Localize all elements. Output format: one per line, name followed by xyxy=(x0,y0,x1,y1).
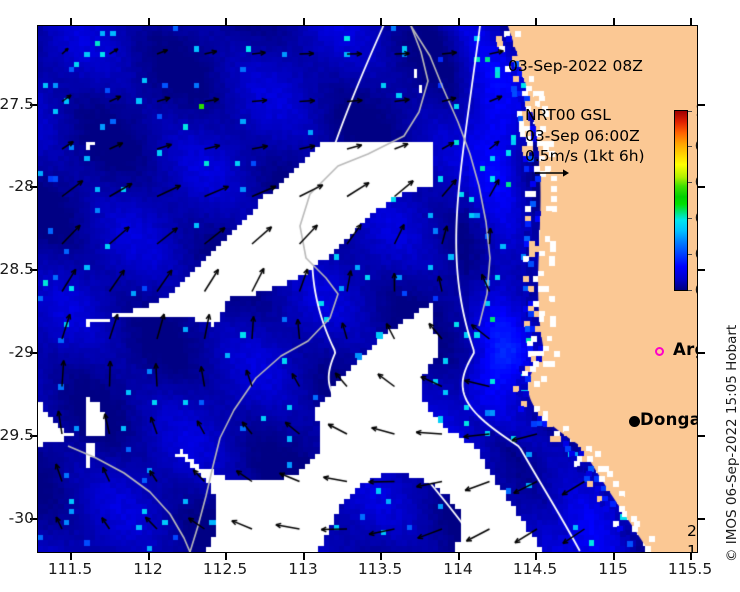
colorbar: 0 0.2 0.4 0.6 0.8 1 xyxy=(674,110,688,291)
xtick-top-4 xyxy=(303,18,305,25)
ytick-right-5 xyxy=(698,435,705,437)
velocity-annotation-block: NRT00 GSL 03-Sep 06:00Z 0.5m/s (1kt 6h) xyxy=(525,105,645,167)
xtick-113-5 xyxy=(380,553,382,560)
xtick-top-3 xyxy=(225,18,227,25)
velocity-scale-label: 0.5m/s (1kt 6h) xyxy=(525,146,645,167)
ytick-right-4 xyxy=(698,352,705,354)
map-plot-area[interactable]: 03-Sep-2022 08Z NRT00 GSL 03-Sep 06:00Z … xyxy=(37,25,698,553)
xtick-114-5 xyxy=(535,553,537,560)
ytick-right-2 xyxy=(698,186,705,188)
ytick-label--27-5: -27.5 xyxy=(0,95,34,113)
xtick-114 xyxy=(458,553,460,560)
xtick-115 xyxy=(613,553,615,560)
xtick-label-115-5: 115.5 xyxy=(668,560,712,578)
xtick-label-114-5: 114.5 xyxy=(513,560,557,578)
xtick-label-114: 114 xyxy=(443,560,473,578)
xtick-label-112-5: 112.5 xyxy=(203,560,247,578)
ytick-label--29: -29 xyxy=(9,343,34,361)
xtick-111-5 xyxy=(70,553,72,560)
sst-std-dev-map-figure: 03-Sep-2022 08Z NRT00 GSL 03-Sep 06:00Z … xyxy=(0,0,740,592)
dongara-marker-label: Dongara xyxy=(640,410,698,429)
xtick-label-112: 112 xyxy=(133,560,163,578)
depth-200m-label: 200m xyxy=(687,521,698,541)
depth-contour-legend: 200m 1000m xyxy=(687,521,698,553)
ytick-label--29-5: -29.5 xyxy=(0,426,34,444)
xtick-112-5 xyxy=(225,553,227,560)
velocity-source-label: NRT00 GSL xyxy=(525,105,645,126)
dongara-marker-icon[interactable] xyxy=(629,416,640,427)
xtick-top-2 xyxy=(148,18,150,25)
xtick-top-6 xyxy=(458,18,460,25)
colorbar-tick-0-2: 0.2 xyxy=(695,245,698,263)
velocity-time-label: 03-Sep 06:00Z xyxy=(525,126,645,147)
right-arrow-icon xyxy=(535,168,569,178)
xtick-top-1 xyxy=(70,18,72,25)
xtick-label-113: 113 xyxy=(288,560,318,578)
colorbar-gradient xyxy=(674,110,688,291)
xtick-label-111-5: 111.5 xyxy=(48,560,92,578)
argo-marker-label: Argo xyxy=(673,340,698,359)
depth-1000m-label: 1000m xyxy=(687,541,698,553)
ytick-label--28: -28 xyxy=(9,177,34,195)
ytick-label--28-5: -28.5 xyxy=(0,260,34,278)
timestamp-annotation: 03-Sep-2022 08Z xyxy=(508,57,643,75)
colorbar-tick-0-4: 0.4 xyxy=(695,209,698,227)
xtick-top-7 xyxy=(535,18,537,25)
xtick-top-9 xyxy=(690,18,692,25)
ytick-right-6 xyxy=(698,518,705,520)
xtick-label-115: 115 xyxy=(598,560,628,578)
colorbar-tick-0-6: 0.6 xyxy=(695,173,698,191)
ytick-right-1 xyxy=(698,104,705,106)
argo-marker-icon[interactable] xyxy=(655,347,664,356)
xtick-112 xyxy=(148,553,150,560)
xtick-top-5 xyxy=(380,18,382,25)
colorbar-tick-0-8: 0.8 xyxy=(695,137,698,155)
colorbar-tick-0: 0 xyxy=(695,281,698,299)
xtick-113 xyxy=(303,553,305,560)
copyright-credit: © IMOS 06-Sep-2022 15:05 Hobart xyxy=(724,325,740,562)
xtick-label-113-5: 113.5 xyxy=(358,560,402,578)
ytick-right-3 xyxy=(698,269,705,271)
ytick-label--30: -30 xyxy=(9,509,34,527)
xtick-top-8 xyxy=(613,18,615,25)
xtick-115-5 xyxy=(690,553,692,560)
